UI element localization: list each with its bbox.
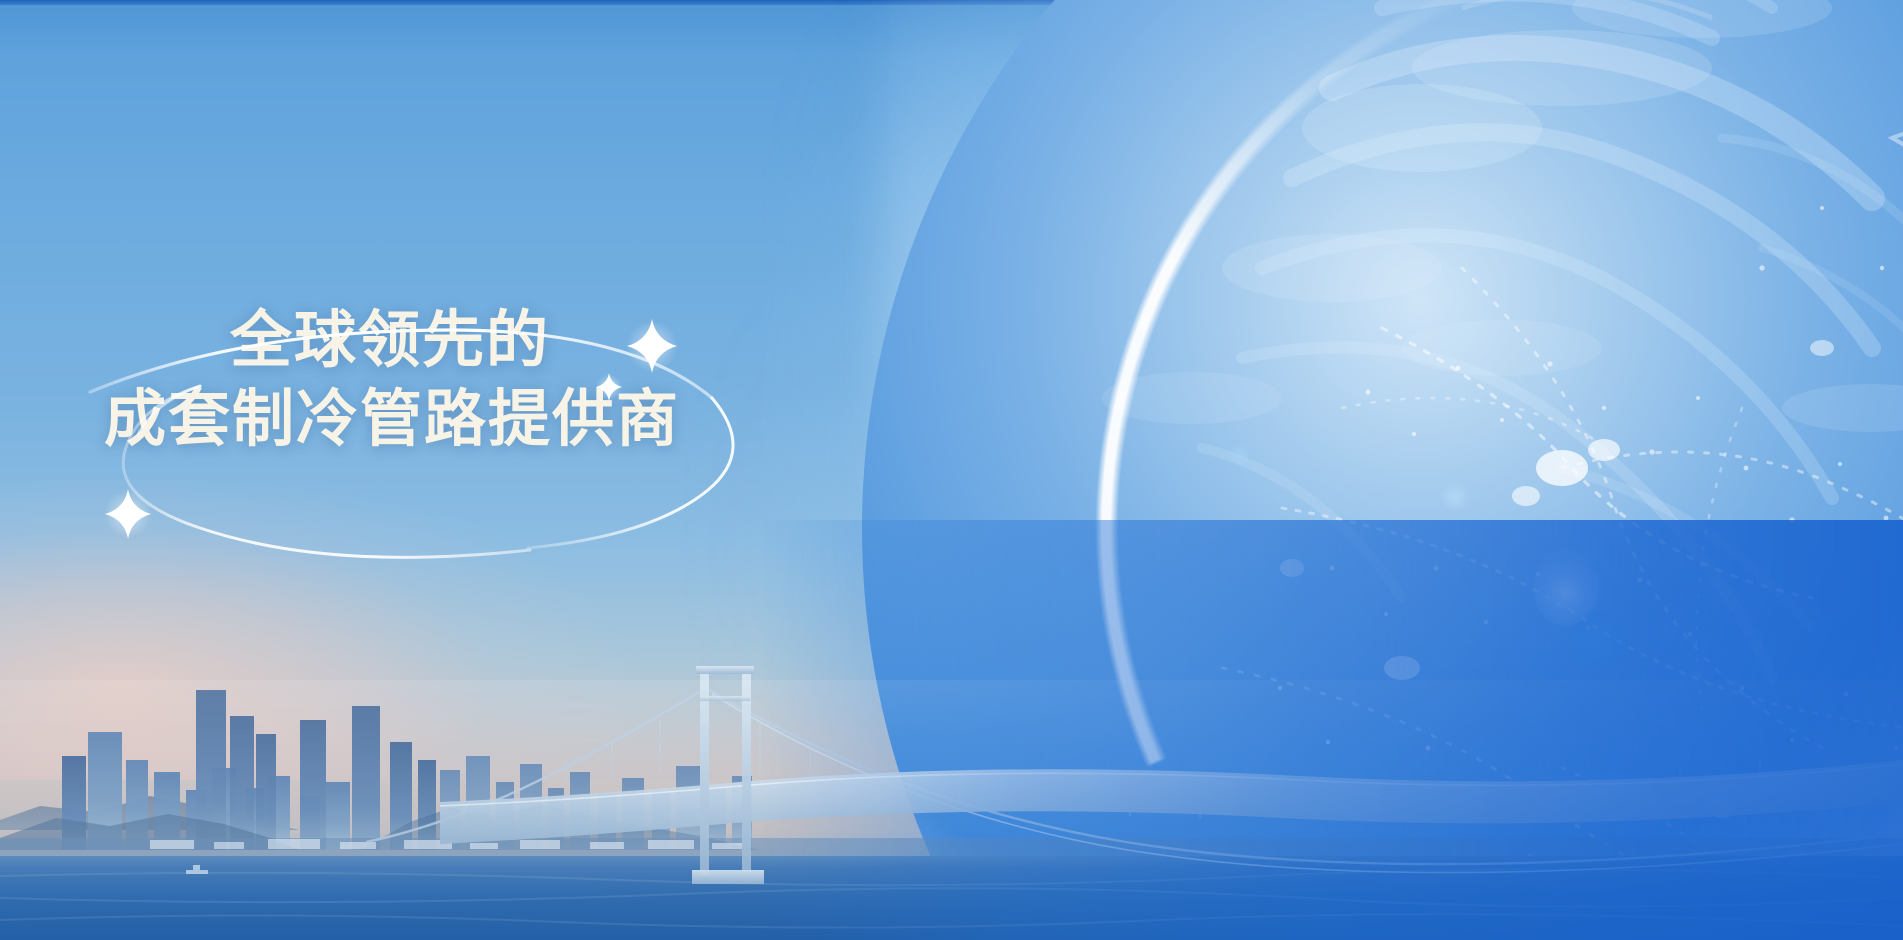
city-skyline-landscape [0, 520, 1903, 940]
headline-line-2: 成套制冷管路提供商 [104, 379, 824, 458]
headline-line-1: 全球领先的 [230, 300, 824, 379]
page-title: 全球领先的 成套制冷管路提供商 [104, 300, 824, 459]
hero-banner: 全球领先的 成套制冷管路提供商 [0, 0, 1903, 940]
